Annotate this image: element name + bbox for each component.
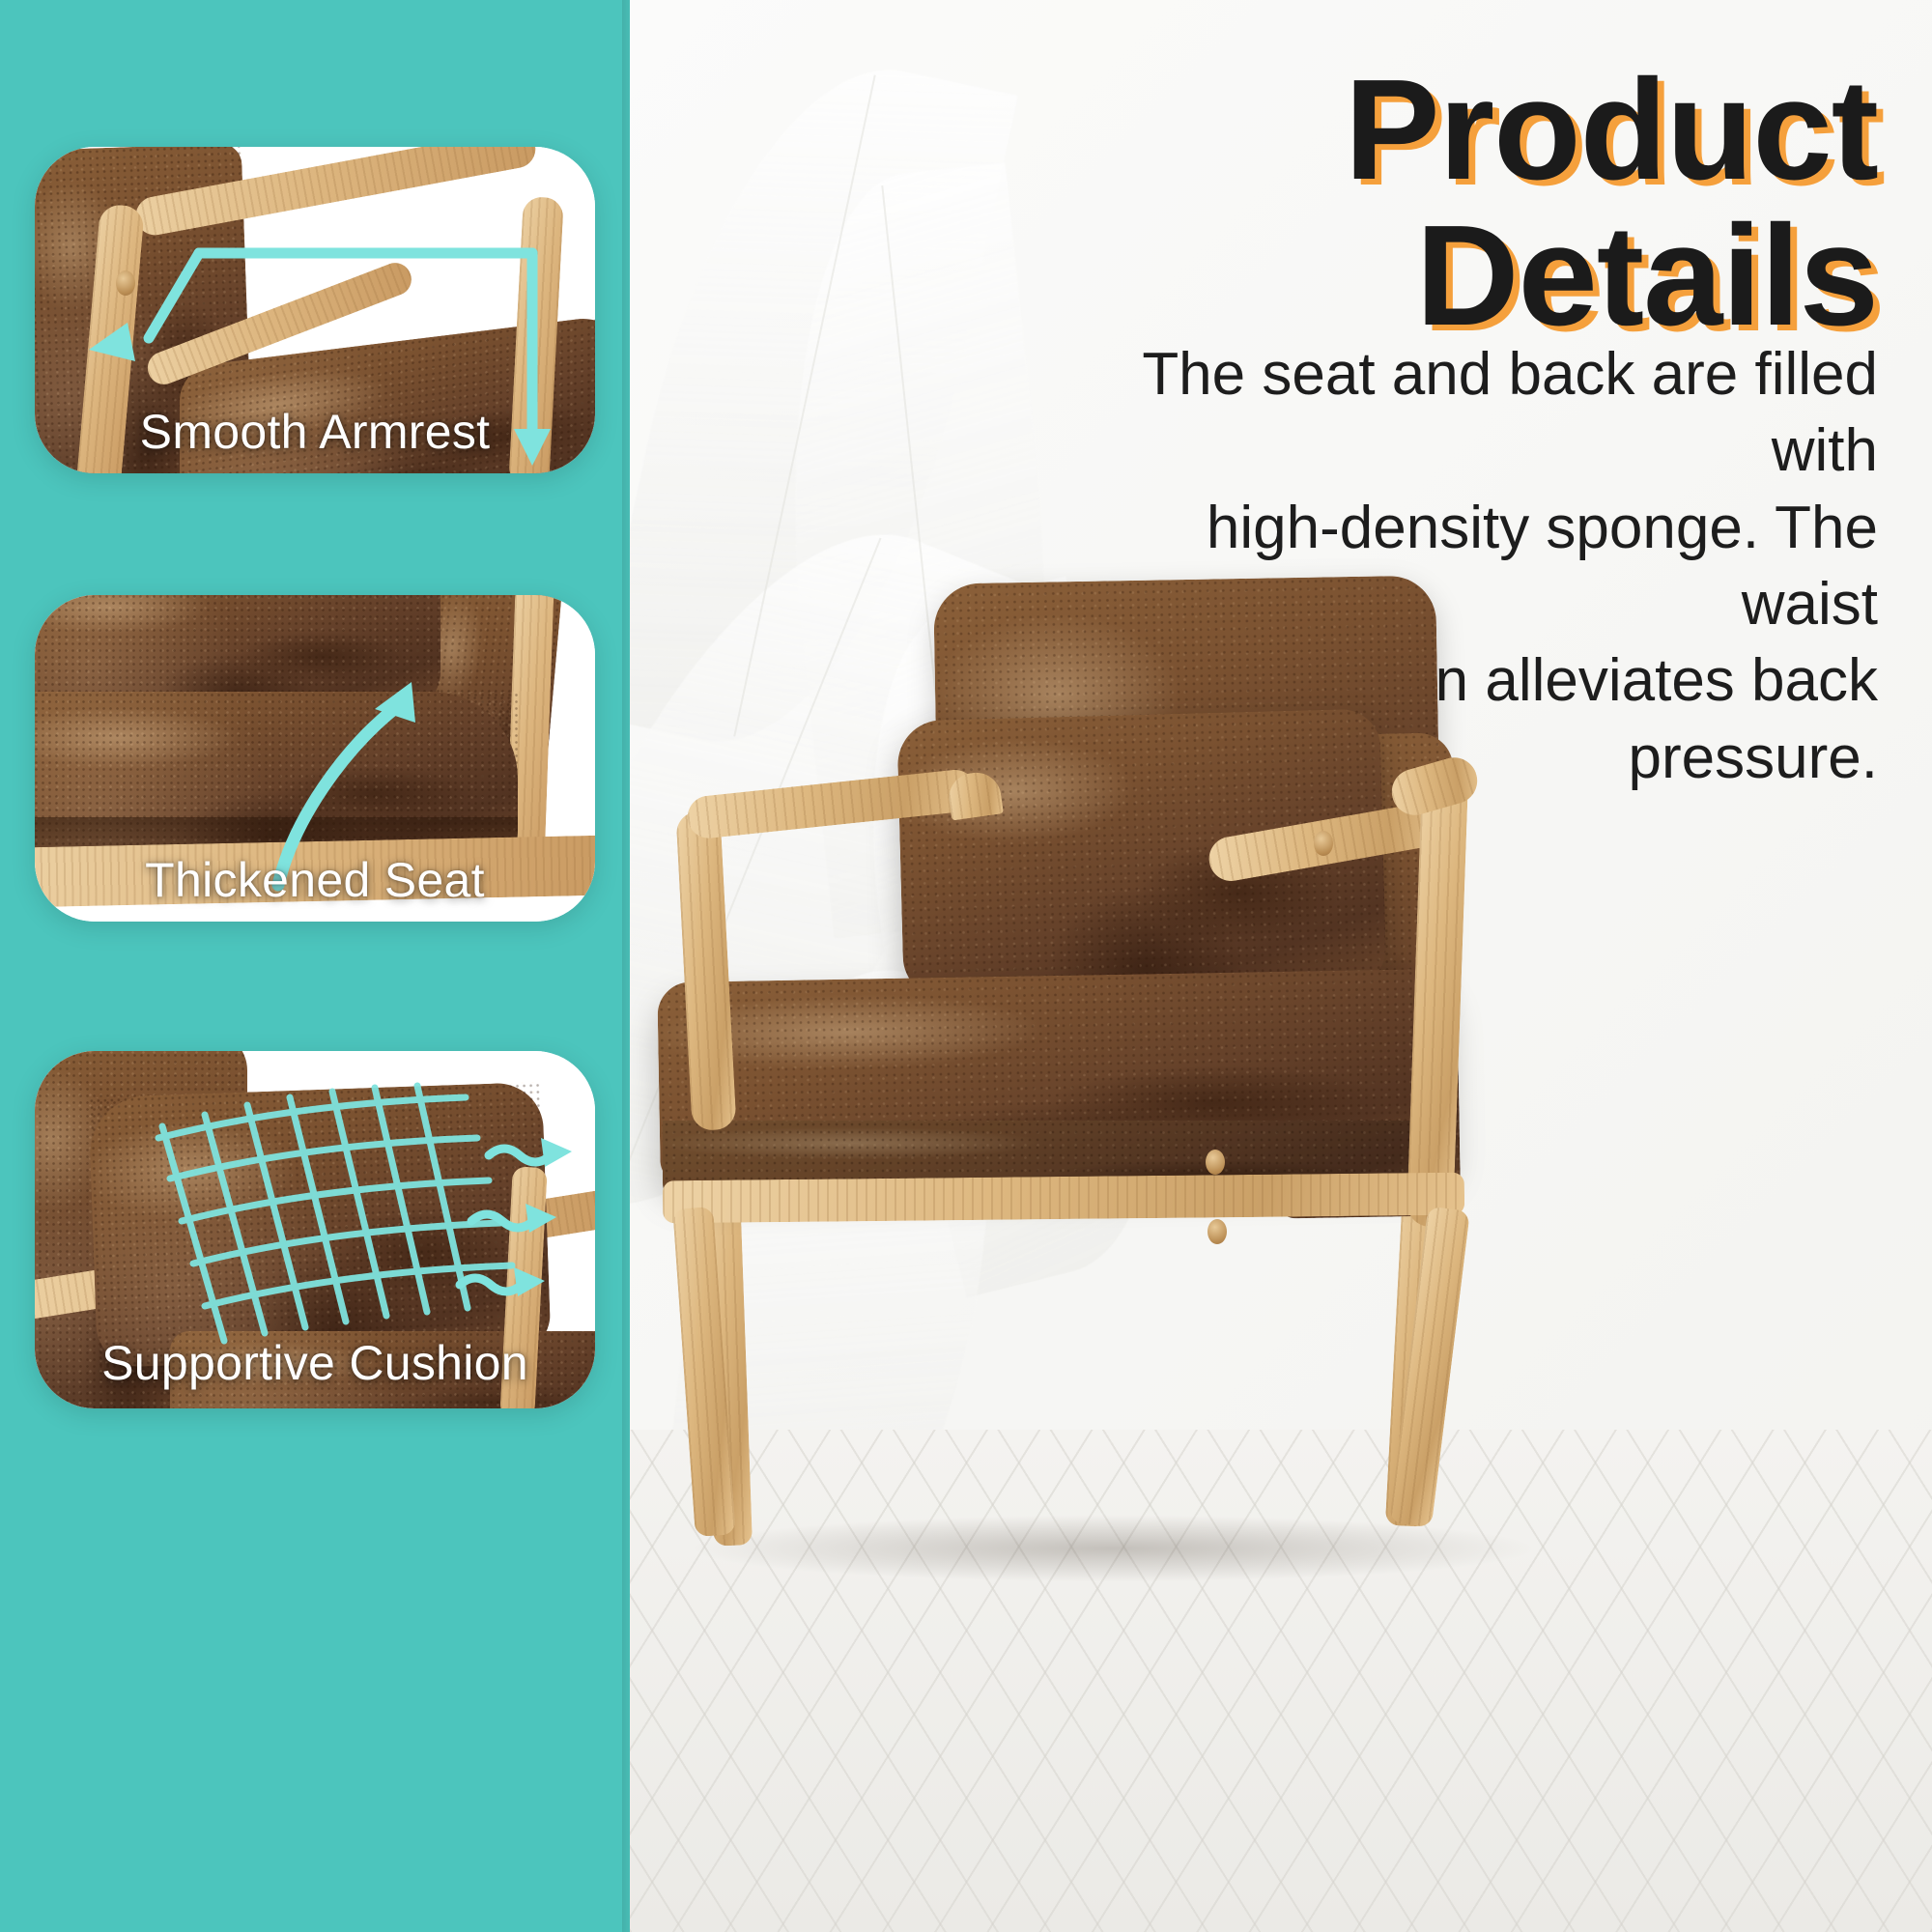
left-feature-panel: Smooth Armrest Thickened Seat: [0, 0, 630, 1932]
feature-card-supportive-cushion[interactable]: Supportive Cushion: [35, 1051, 595, 1408]
feature-card-caption: Smooth Armrest: [35, 404, 595, 460]
right-detail-panel: Product Details The seat and back are fi…: [630, 0, 1932, 1932]
product-photo-armchair: [630, 0, 1932, 1932]
feature-card-smooth-armrest[interactable]: Smooth Armrest: [35, 147, 595, 473]
feature-card-thickened-seat[interactable]: Thickened Seat: [35, 595, 595, 922]
feature-card-caption: Thickened Seat: [35, 852, 595, 908]
infographic-root: Smooth Armrest Thickened Seat: [0, 0, 1932, 1932]
feature-card-caption: Supportive Cushion: [35, 1335, 595, 1391]
